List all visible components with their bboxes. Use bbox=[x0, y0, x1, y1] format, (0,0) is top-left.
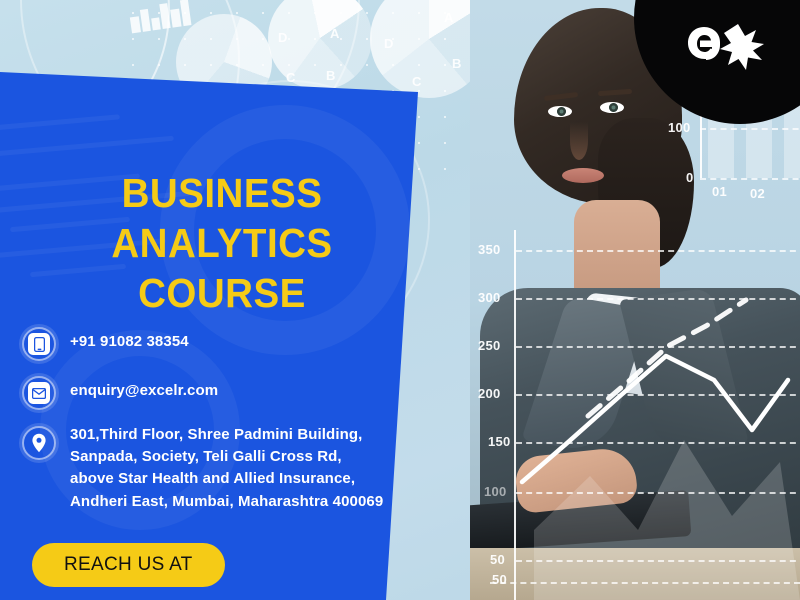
address-line: Andheri East, Mumbai, Maharashtra 400069 bbox=[70, 493, 383, 510]
location-pin-icon bbox=[22, 426, 56, 460]
contact-row-email[interactable]: enquiry@excelr.com bbox=[22, 375, 422, 410]
contact-list: +91 91082 38354 enquiry@excelr.com bbox=[22, 326, 422, 527]
email-icon bbox=[22, 376, 56, 410]
pie-slice-label: B bbox=[452, 56, 461, 71]
pie-slice-label: A bbox=[444, 10, 453, 25]
title-line-1: BUSINESS ANALYTICS bbox=[34, 168, 410, 268]
phone-icon bbox=[22, 327, 56, 361]
excelr-ex-logo-icon[interactable] bbox=[686, 22, 782, 84]
promo-banner: A B C D A B C D 200 bbox=[0, 0, 800, 600]
contact-row-phone[interactable]: +91 91082 38354 bbox=[22, 326, 422, 361]
panel-content: BUSINESS ANALYTICS COURSE +91 91082 3835… bbox=[0, 0, 440, 600]
phone-number: +91 91082 38354 bbox=[70, 326, 189, 353]
address-text: 301,Third Floor, Shree Padmini Building,… bbox=[70, 424, 383, 513]
contact-row-address[interactable]: 301,Third Floor, Shree Padmini Building,… bbox=[22, 424, 422, 513]
email-address: enquiry@excelr.com bbox=[70, 375, 218, 402]
reach-us-at-button[interactable]: REACH US AT bbox=[32, 543, 225, 587]
address-line: above Star Health and Allied Insurance, bbox=[70, 470, 355, 487]
page-title: BUSINESS ANALYTICS COURSE bbox=[34, 168, 410, 318]
title-line-2: COURSE bbox=[34, 268, 410, 318]
address-line: Sanpada, Society, Teli Galli Cross Rd, bbox=[70, 448, 342, 465]
address-line: 301,Third Floor, Shree Padmini Building, bbox=[70, 426, 362, 443]
